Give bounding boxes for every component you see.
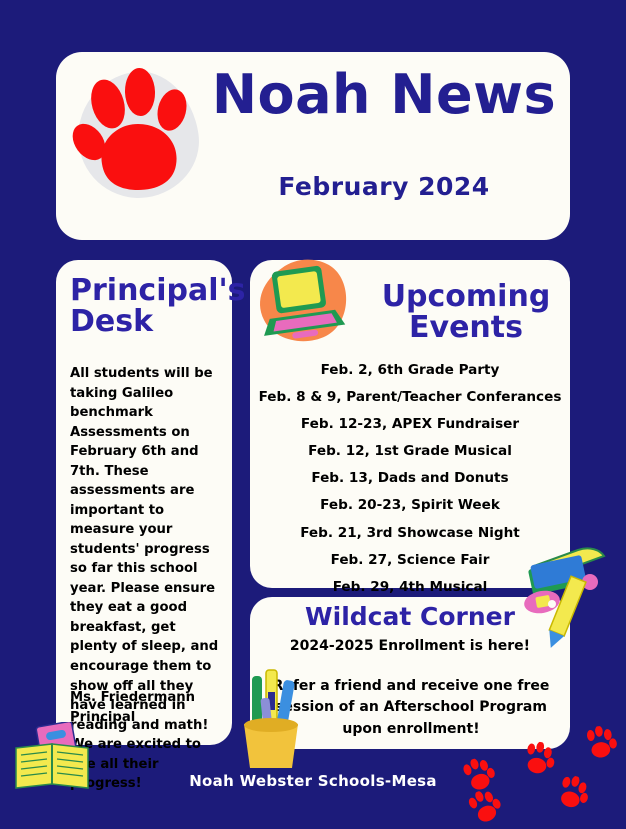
- list-item: Feb. 13, Dads and Donuts: [254, 472, 566, 486]
- footer-school-name: Noah Webster Schools-Mesa: [0, 772, 626, 790]
- list-item: Feb. 2, 6th Grade Party: [254, 364, 566, 378]
- books-pencil-sharpener-icon: [516, 536, 620, 656]
- paw-print-icon: [72, 66, 204, 196]
- list-item: Feb. 12, 1st Grade Musical: [254, 445, 566, 459]
- upcoming-events-title: Upcoming Events: [368, 282, 564, 343]
- list-item: Feb. 8 & 9, Parent/Teacher Conferances: [254, 391, 566, 405]
- principals-desk-title: Principal's Desk: [70, 276, 230, 337]
- page-title: Noah News: [210, 68, 558, 122]
- laptop-icon: [248, 252, 360, 364]
- newsletter-page: Noah News February 2024 Principal's Desk…: [0, 0, 626, 810]
- pencil-cup-icon: [228, 668, 312, 772]
- issue-date: February 2024: [210, 172, 558, 201]
- paw-print-icon: [582, 724, 619, 761]
- list-item: Feb. 12-23, APEX Fundraiser: [254, 418, 566, 432]
- list-item: Feb. 20-23, Spirit Week: [254, 499, 566, 513]
- referral-offer-text: Refer a friend and receive one free sess…: [272, 676, 550, 740]
